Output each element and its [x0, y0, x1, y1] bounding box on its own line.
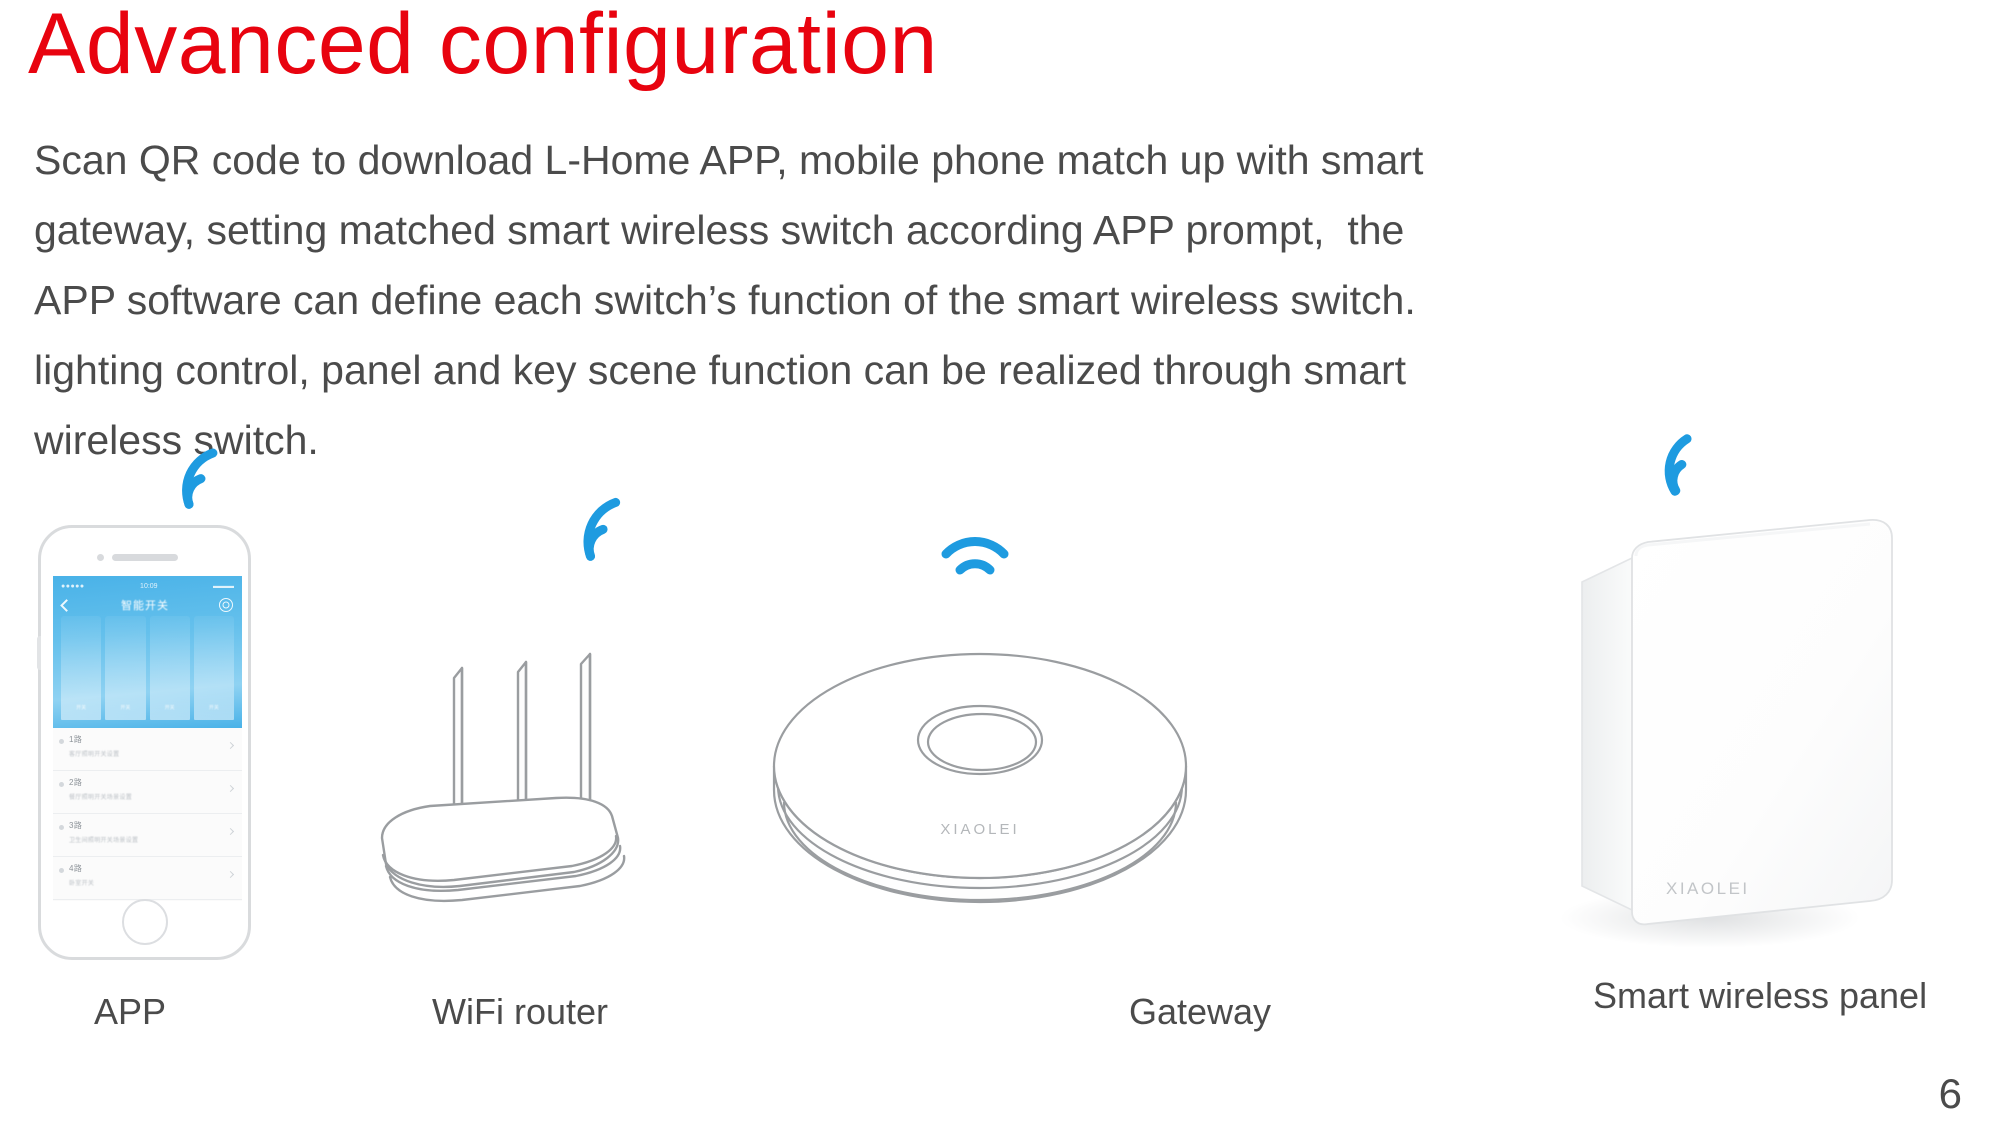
list-item-title: 2路 [69, 777, 226, 788]
panel-brand-label: XIAOLEI [1666, 879, 1750, 898]
wifi-signal-icon [938, 520, 1012, 576]
status-bar-battery: ▬▬▬ [213, 583, 234, 590]
front-camera-icon [97, 554, 104, 561]
wifi-signal-icon [165, 443, 235, 515]
caption-gateway: Gateway [1000, 988, 1400, 1036]
list-item-subtitle: 卫生间照明开关场景设置 [69, 835, 226, 844]
app-key-label: 开关 [194, 704, 234, 711]
app-key-button[interactable]: 开关 [105, 616, 145, 720]
side-button [37, 636, 41, 670]
app-hero-panel: ●●●●● 10:09 ▬▬▬ 智能开关 开关 开关 开关 [53, 576, 242, 728]
list-item-subtitle: 餐厅照明开关场景设置 [69, 792, 226, 801]
chevron-right-icon[interactable] [227, 828, 234, 835]
caption-panel: Smart wireless panel [1570, 972, 1950, 1020]
list-item[interactable]: 3路 卫生间照明开关场景设置 [53, 814, 242, 857]
wall-switch-panel-icon: XIAOLEI [1540, 506, 2000, 966]
list-item[interactable]: 1路 客厅照明开关设置 [53, 728, 242, 771]
chevron-right-icon[interactable] [227, 785, 234, 792]
smartphone-icon: ●●●●● 10:09 ▬▬▬ 智能开关 开关 开关 开关 [38, 525, 251, 960]
list-item-title: 1路 [69, 734, 226, 745]
phone-screen: ●●●●● 10:09 ▬▬▬ 智能开关 开关 开关 开关 [53, 576, 242, 901]
list-item[interactable]: 4路 卧室开关 [53, 857, 242, 900]
app-key-label: 开关 [105, 704, 145, 711]
list-item-subtitle: 客厅照明开关设置 [69, 749, 226, 758]
list-item-title: 4路 [69, 863, 226, 874]
app-screen-title: 智能开关 [121, 597, 169, 613]
status-bar-signal: ●●●●● [61, 583, 85, 590]
status-bar: ●●●●● 10:09 ▬▬▬ [53, 581, 242, 592]
status-bar-time: 10:09 [140, 583, 158, 590]
paragraph-line: Scan QR code to download L-Home APP, mob… [34, 125, 1954, 195]
app-channel-list: 1路 客厅照明开关设置 2路 餐厅照明开关场景设置 3路 [53, 728, 242, 900]
page-title: Advanced configuration [28, 0, 938, 92]
wifi-signal-icon [1648, 432, 1714, 498]
smart-gateway-icon: XIAOLEI [770, 616, 1190, 956]
bullet-icon [59, 868, 64, 873]
device-router [350, 480, 690, 970]
page-number: 6 [1939, 1070, 1962, 1118]
bullet-icon [59, 782, 64, 787]
app-key-row: 开关 开关 开关 开关 [61, 616, 234, 720]
gear-icon[interactable] [219, 598, 233, 612]
slide-advanced-configuration: Advanced configuration Scan QR code to d… [0, 0, 2000, 1128]
bullet-icon [59, 739, 64, 744]
list-item[interactable]: 2路 餐厅照明开关场景设置 [53, 771, 242, 814]
app-key-button[interactable]: 开关 [150, 616, 190, 720]
device-panel: XIAOLEI [1540, 440, 2000, 960]
paragraph-line: gateway, setting matched smart wireless … [34, 195, 1954, 265]
chevron-left-icon[interactable] [60, 599, 73, 612]
app-navbar: 智能开关 [53, 594, 242, 616]
chevron-right-icon[interactable] [227, 871, 234, 878]
caption-router: WiFi router [330, 988, 710, 1036]
device-app: ●●●●● 10:09 ▬▬▬ 智能开关 开关 开关 开关 [30, 525, 260, 960]
home-button[interactable] [122, 899, 168, 945]
chevron-right-icon[interactable] [227, 742, 234, 749]
bullet-icon [59, 825, 64, 830]
paragraph-line: lighting control, panel and key scene fu… [34, 335, 1954, 405]
app-key-button[interactable]: 开关 [61, 616, 101, 720]
app-key-button[interactable]: 开关 [194, 616, 234, 720]
speaker-grill [112, 554, 178, 561]
device-diagram: ●●●●● 10:09 ▬▬▬ 智能开关 开关 开关 开关 [0, 470, 2000, 1030]
list-item-subtitle: 卧室开关 [69, 878, 226, 887]
gateway-brand-label: XIAOLEI [940, 821, 1019, 838]
app-key-label: 开关 [61, 704, 101, 711]
device-gateway: XIAOLEI [770, 520, 1190, 960]
description-paragraph: Scan QR code to download L-Home APP, mob… [34, 125, 1954, 475]
app-key-label: 开关 [150, 704, 190, 711]
list-item-title: 3路 [69, 820, 226, 831]
wifi-router-icon [350, 550, 690, 970]
paragraph-line: APP software can define each switch’s fu… [34, 265, 1954, 335]
caption-app: APP [20, 988, 240, 1036]
